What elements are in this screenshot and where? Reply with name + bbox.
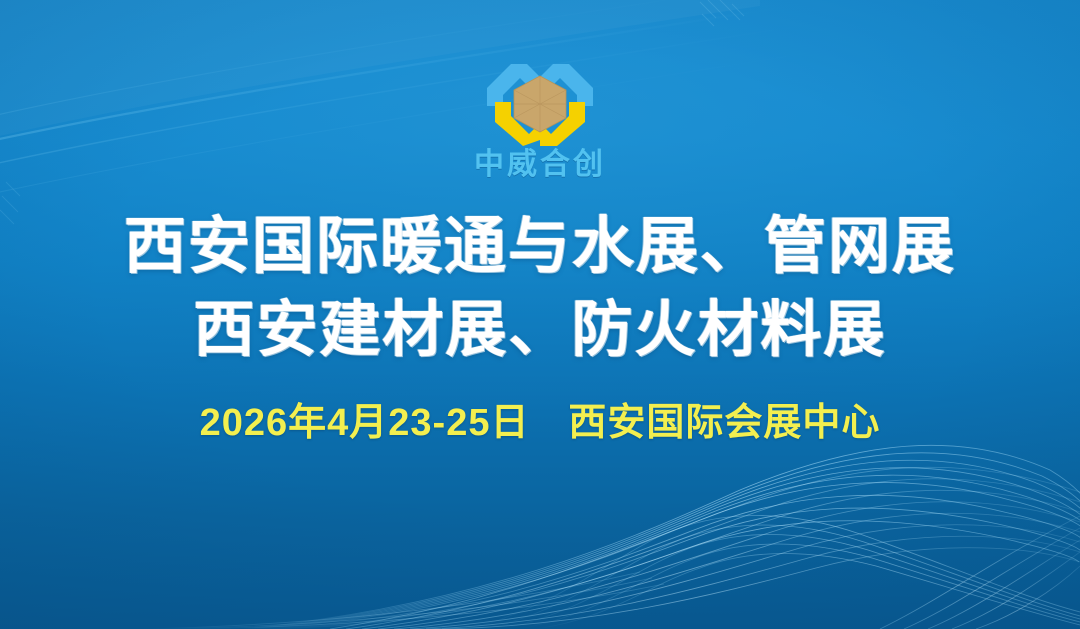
- hexagon-bracket-logo-icon: [481, 54, 599, 146]
- event-date: 2026年4月23-25日: [200, 398, 530, 448]
- title-line-1: 西安国际暖通与水展、管网展: [0, 205, 1080, 288]
- logo-wordmark: 中威合创: [474, 150, 606, 180]
- event-venue: 西安国际会展中心: [568, 398, 880, 448]
- poster-title: 西安国际暖通与水展、管网展 西安建材展、防火材料展: [0, 205, 1080, 371]
- title-line-2: 西安建材展、防火材料展: [0, 288, 1080, 371]
- exhibition-poster: 中威合创 西安国际暖通与水展、管网展 西安建材展、防火材料展 2026年4月23…: [0, 0, 1080, 629]
- brand-logo: 中威合创: [0, 54, 1080, 180]
- event-details: 2026年4月23-25日 西安国际会展中心: [0, 398, 1080, 448]
